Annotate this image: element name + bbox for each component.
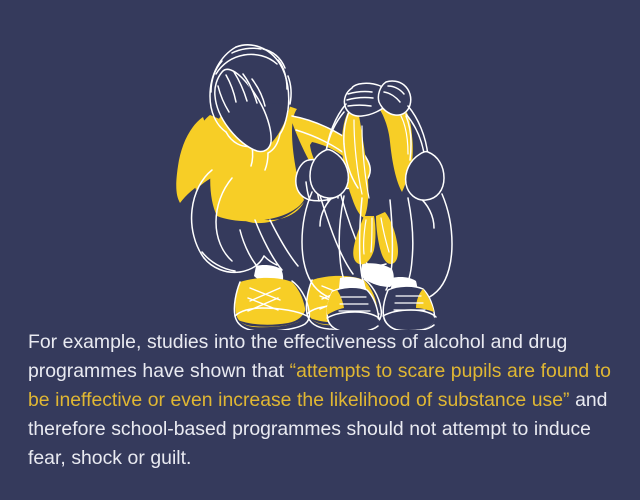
right-figure-knees xyxy=(310,150,444,200)
illustration-area xyxy=(0,0,640,325)
caption-block: For example, studies into the effectiven… xyxy=(28,328,616,473)
caption-paragraph: For example, studies into the effectiven… xyxy=(28,328,616,473)
two-distressed-teenagers-illustration xyxy=(140,20,480,330)
slide-root: For example, studies into the effectiven… xyxy=(0,0,640,500)
right-figure-hands-on-head xyxy=(344,81,410,116)
